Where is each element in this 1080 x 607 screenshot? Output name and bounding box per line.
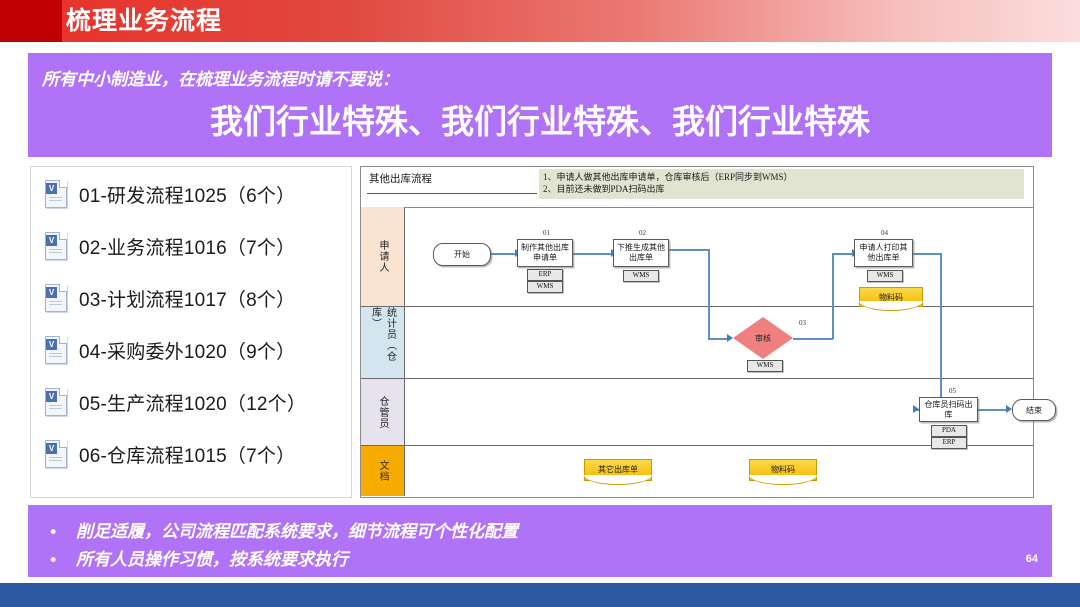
decision-label: 审核 bbox=[733, 317, 793, 359]
flowchart-header: 其他出库流程 1、申请人做其他出库申请单，仓库审核后（ERP同步到WMS） 2、… bbox=[361, 167, 1033, 208]
tag-wms: WMS bbox=[867, 270, 903, 282]
node-number-03: 03 bbox=[799, 319, 806, 327]
list-item[interactable]: V 05-生产流程1020（12个） bbox=[45, 385, 306, 419]
page-number: 64 bbox=[1026, 553, 1038, 565]
node-start[interactable]: 开始 bbox=[433, 243, 491, 266]
document-material-code-top: 物料码 bbox=[859, 287, 923, 307]
list-item[interactable]: V 06-仓库流程1015（7个） bbox=[45, 437, 295, 471]
connector-to-04 bbox=[832, 253, 854, 255]
hero-headline: 我们行业特殊、我们行业特殊、我们行业特殊 bbox=[28, 95, 1052, 143]
flowchart-title: 其他出库流程 bbox=[369, 171, 529, 191]
swimlane-documents: 文档 bbox=[361, 446, 1033, 496]
node-number-05: 05 bbox=[949, 387, 956, 395]
tag-pda: PDA bbox=[931, 425, 967, 437]
flowchart-body: 申请人 统计员（仓库） 仓管员 文档 bbox=[361, 207, 1033, 496]
hero-panel: 所有中小制造业，在梳理业务流程时请不要说： 我们行业特殊、我们行业特殊、我们行业… bbox=[28, 53, 1052, 157]
bullet-item: •所有人员操作习惯，按系统要求执行 bbox=[50, 545, 348, 570]
bullet-item: •削足适履，公司流程匹配系统要求，细节流程可个性化配置 bbox=[50, 517, 518, 542]
file-label: 04-采购委外1020（9个） bbox=[79, 337, 295, 364]
connector-02-down bbox=[708, 249, 710, 339]
node-number-04: 04 bbox=[881, 229, 888, 237]
swimlane-statistician: 统计员（仓库） bbox=[361, 307, 1033, 379]
bullets-panel: •削足适履，公司流程匹配系统要求，细节流程可个性化配置 •所有人员操作习惯，按系… bbox=[28, 505, 1052, 577]
file-label: 05-生产流程1020（12个） bbox=[79, 389, 306, 416]
node-04-print-outbound[interactable]: 申请人打印其他出库单 bbox=[854, 239, 913, 267]
swimlane-label: 文档 bbox=[375, 460, 390, 482]
visio-document-icon: V bbox=[45, 284, 69, 312]
node-05-scan-outbound[interactable]: 仓库员扫码出库 bbox=[919, 397, 978, 422]
file-list-panel: V 01-研发流程1025（6个） V 02-业务流程1016（7个） V 03… bbox=[30, 166, 352, 498]
connector-05-to-end bbox=[978, 409, 1008, 411]
node-02-generate-outbound[interactable]: 下推生成其他出库单 bbox=[613, 239, 669, 267]
tag-wms: WMS bbox=[747, 360, 783, 372]
file-label: 06-仓库流程1015（7个） bbox=[79, 441, 295, 468]
file-label: 01-研发流程1025（6个） bbox=[79, 181, 295, 208]
flowchart-notes: 1、申请人做其他出库申请单，仓库审核后（ERP同步到WMS） 2、目前还未做到P… bbox=[539, 169, 1024, 199]
document-material-code: 物料码 bbox=[749, 459, 817, 481]
visio-document-icon: V bbox=[45, 440, 69, 468]
swimlane-header: 文档 bbox=[361, 446, 405, 496]
list-item[interactable]: V 01-研发流程1025（6个） bbox=[45, 177, 295, 211]
visio-document-icon: V bbox=[45, 336, 69, 364]
list-item[interactable]: V 04-采购委外1020（9个） bbox=[45, 333, 295, 367]
connector-04-out bbox=[913, 253, 941, 255]
footer-bar bbox=[0, 583, 1080, 607]
list-item[interactable]: V 03-计划流程1017（8个） bbox=[45, 281, 295, 315]
bullet-marker: • bbox=[50, 550, 76, 570]
visio-document-icon: V bbox=[45, 388, 69, 416]
file-label: 03-计划流程1017（8个） bbox=[79, 285, 295, 312]
tag-wms: WMS bbox=[527, 281, 563, 293]
visio-document-icon: V bbox=[45, 232, 69, 260]
flowchart-title-rule bbox=[367, 193, 537, 194]
node-01-create-request[interactable]: 制作其他出库申请单 bbox=[517, 239, 573, 267]
bullet-marker: • bbox=[50, 522, 76, 542]
bullet-text: 削足适履，公司流程匹配系统要求，细节流程可个性化配置 bbox=[76, 522, 518, 541]
connector-02-out bbox=[669, 249, 709, 251]
slide: 梳理业务流程 所有中小制造业，在梳理业务流程时请不要说： 我们行业特殊、我们行业… bbox=[0, 0, 1080, 607]
node-number-02: 02 bbox=[639, 229, 646, 237]
swimlane-header: 统计员（仓库） bbox=[361, 307, 405, 378]
bullet-text: 所有人员操作习惯，按系统要求执行 bbox=[76, 550, 348, 569]
connector-03-up bbox=[832, 253, 834, 339]
swimlane-header: 仓管员 bbox=[361, 379, 405, 445]
flowchart-panel: 其他出库流程 1、申请人做其他出库申请单，仓库审核后（ERP同步到WMS） 2、… bbox=[360, 166, 1034, 498]
title-bar-underline bbox=[0, 42, 1080, 47]
title-accent-block bbox=[0, 0, 62, 42]
document-other-outbound-form: 其它出库单 bbox=[584, 459, 652, 481]
visio-document-icon: V bbox=[45, 180, 69, 208]
node-03-review-decision[interactable]: 审核 bbox=[733, 317, 793, 359]
list-item[interactable]: V 02-业务流程1016（7个） bbox=[45, 229, 295, 263]
tag-erp: ERP bbox=[527, 269, 563, 281]
connector-03-out bbox=[793, 338, 833, 340]
connector-04-down bbox=[940, 253, 942, 410]
tag-erp: ERP bbox=[931, 437, 967, 449]
swimlane-label: 仓管员 bbox=[375, 396, 390, 429]
node-number-01: 01 bbox=[543, 229, 550, 237]
title-bar: 梳理业务流程 bbox=[0, 0, 1080, 42]
swimlane-label: 申请人 bbox=[375, 240, 390, 273]
connector-01-to-02 bbox=[573, 253, 613, 255]
page-title: 梳理业务流程 bbox=[66, 6, 222, 36]
file-label: 02-业务流程1016（7个） bbox=[79, 233, 295, 260]
hero-subtitle: 所有中小制造业，在梳理业务流程时请不要说： bbox=[42, 65, 399, 90]
tag-wms: WMS bbox=[623, 270, 659, 282]
node-end[interactable]: 结束 bbox=[1012, 399, 1056, 421]
swimlane-label: 统计员（仓库） bbox=[368, 307, 398, 378]
connector-start-to-01 bbox=[489, 253, 517, 255]
swimlane-header: 申请人 bbox=[361, 207, 405, 306]
